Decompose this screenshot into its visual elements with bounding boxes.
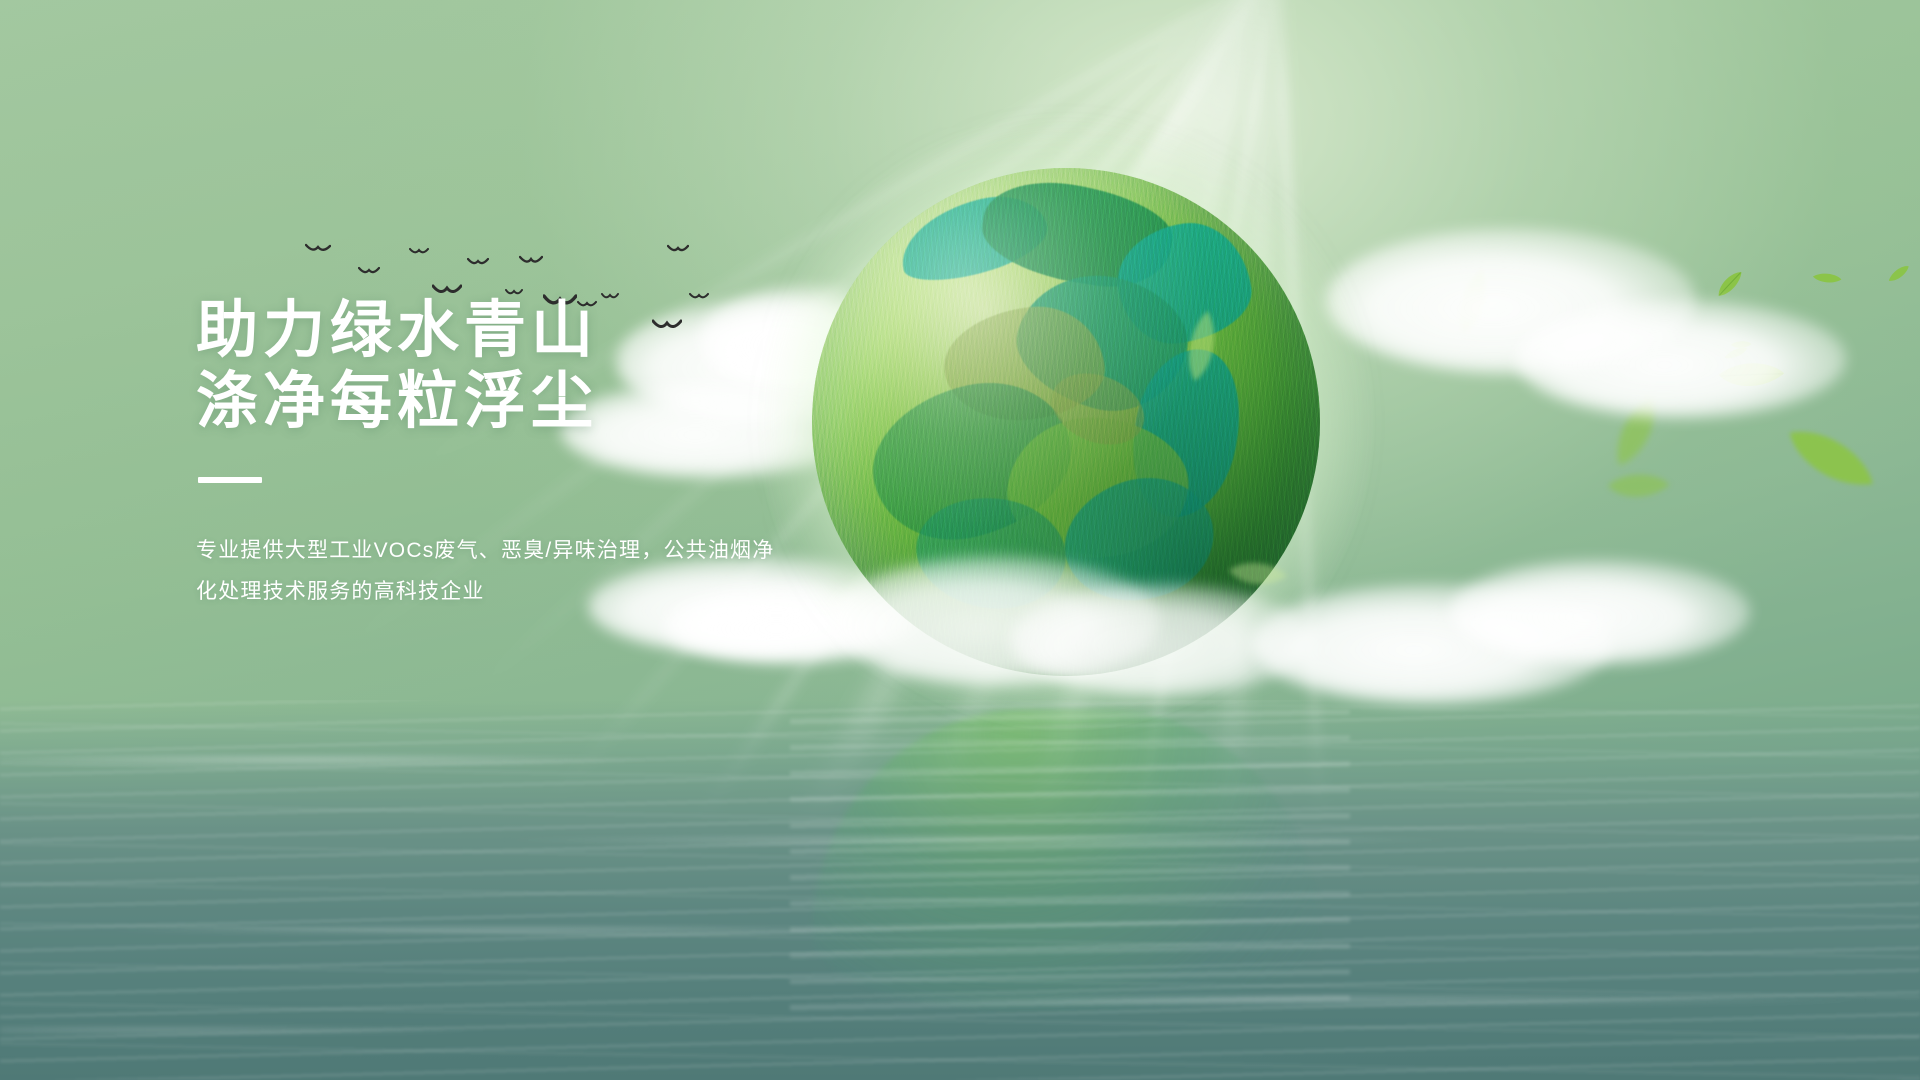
subtitle-line-2: 化处理技术服务的高科技企业: [196, 572, 916, 613]
eco-hero-banner: 助力绿水青山 涤净每粒浮尘 专业提供大型工业VOCs废气、恶臭/异味治理，公共油…: [0, 0, 1920, 1080]
hero-copy: 助力绿水青山 涤净每粒浮尘 专业提供大型工业VOCs废气、恶臭/异味治理，公共油…: [196, 296, 916, 613]
headline-line-1: 助力绿水青山: [196, 296, 916, 367]
water-glints: [0, 700, 1920, 1080]
accent-divider: [198, 477, 262, 483]
hero-subtitle: 专业提供大型工业VOCs废气、恶臭/异味治理，公共油烟净 化处理技术服务的高科技…: [196, 531, 916, 613]
water-surface: [0, 700, 1920, 1080]
page-title: 助力绿水青山 涤净每粒浮尘: [196, 296, 916, 437]
subtitle-line-1: 专业提供大型工业VOCs废气、恶臭/异味治理，公共油烟净: [196, 531, 916, 572]
headline-line-2: 涤净每粒浮尘: [196, 367, 916, 438]
